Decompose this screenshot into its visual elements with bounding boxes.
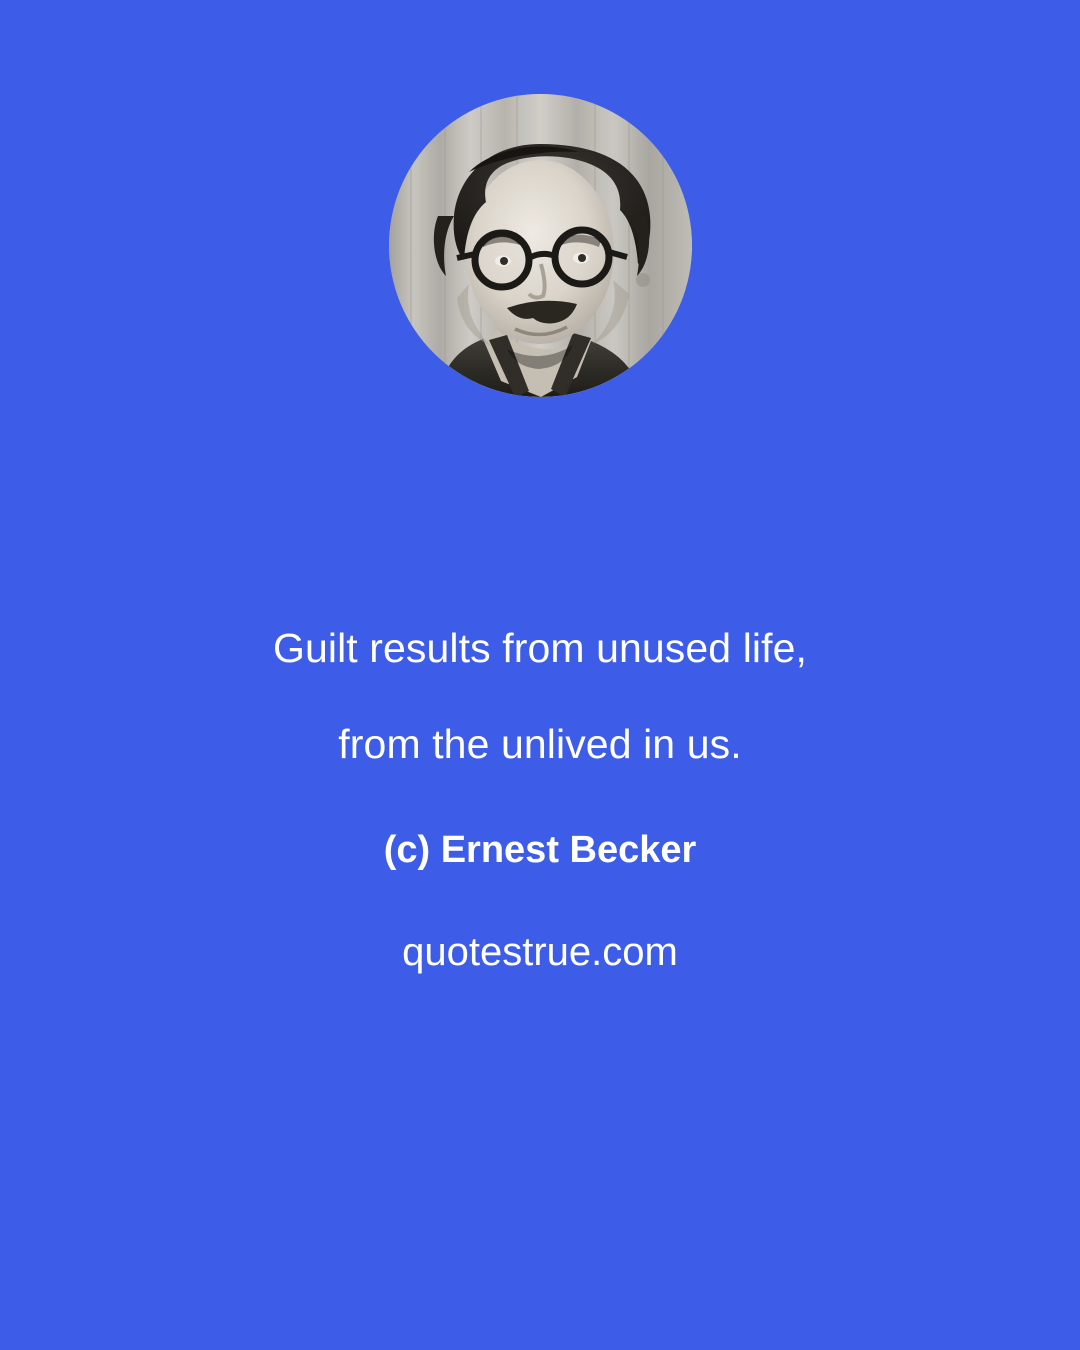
quote-text-block: Guilt results from unused life, from the… [0,600,1080,1000]
quote-line-1: Guilt results from unused life, [0,600,1080,696]
source-website: quotestrue.com [0,904,1080,1000]
quote-author: (c) Ernest Becker [0,802,1080,898]
quote-line-2: from the unlived in us. [0,696,1080,792]
portrait-photo-icon [389,94,692,397]
quote-card: Guilt results from unused life, from the… [0,0,1080,1350]
author-portrait [389,94,692,397]
